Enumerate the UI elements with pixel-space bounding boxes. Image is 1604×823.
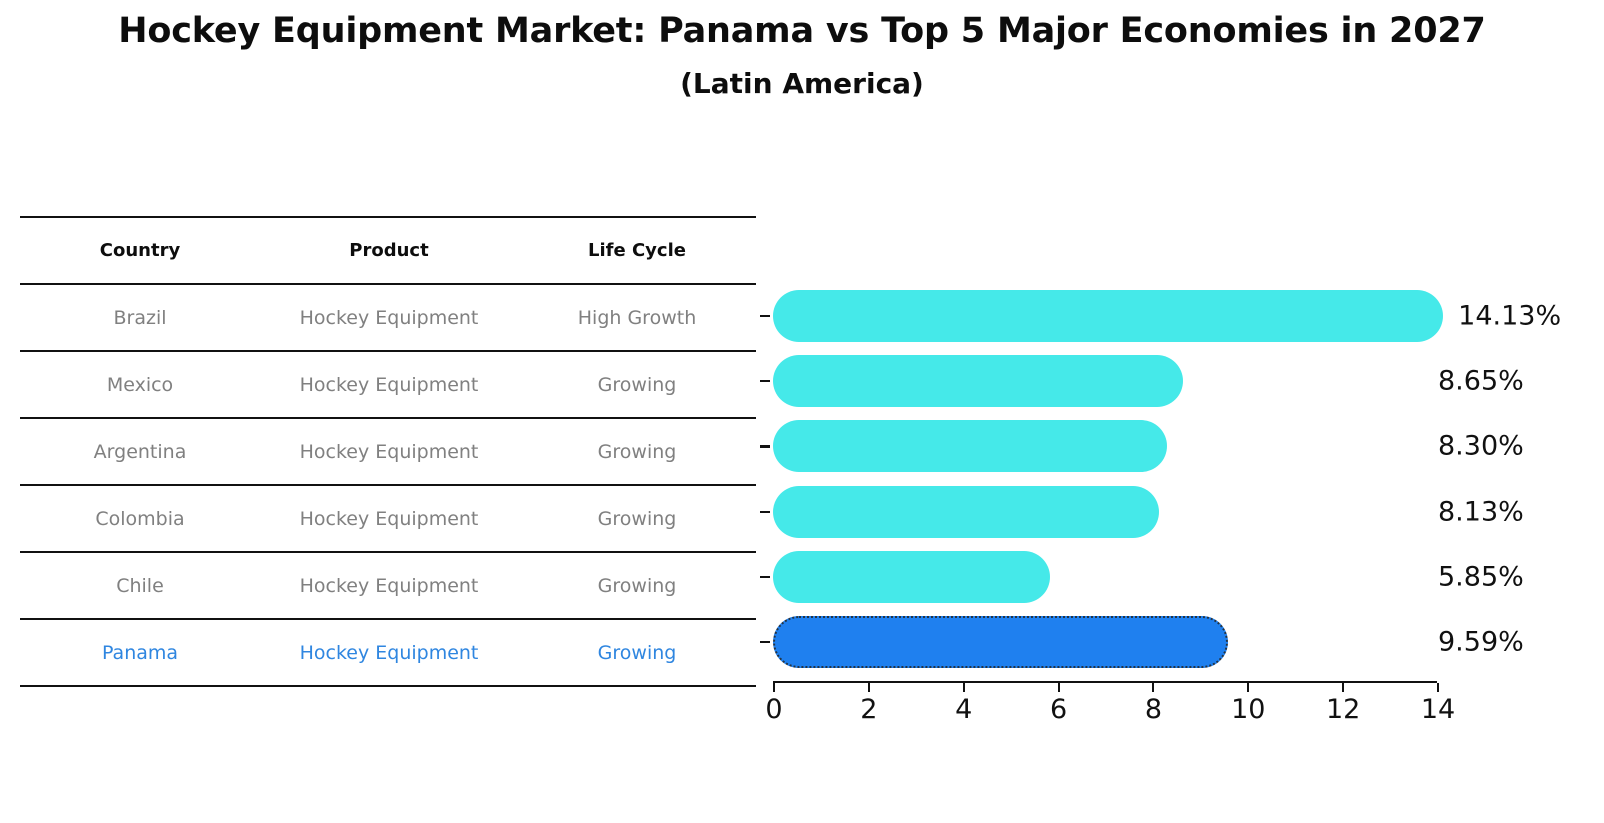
cell-country: Panama — [20, 619, 260, 686]
bar-row: 5.85% — [773, 551, 1220, 603]
bar-colombia[interactable] — [773, 486, 1159, 538]
y-axis-tick — [760, 380, 770, 382]
bar-row: 14.13% — [773, 290, 1604, 342]
x-axis-tick — [773, 683, 775, 692]
table-row: BrazilHockey EquipmentHigh Growth — [20, 284, 756, 351]
x-axis-tick — [1342, 683, 1344, 692]
bar-mexico[interactable] — [773, 355, 1183, 407]
x-axis-tick — [868, 683, 870, 692]
cell-country: Mexico — [20, 351, 260, 418]
column-header-product: Product — [260, 217, 518, 284]
cell-product: Hockey Equipment — [260, 284, 518, 351]
bar-panama[interactable] — [773, 616, 1228, 668]
cell-lifecycle: Growing — [518, 619, 756, 686]
x-axis-tick-label: 12 — [1326, 694, 1360, 725]
y-axis-tick — [760, 445, 770, 447]
table-row: PanamaHockey EquipmentGrowing — [20, 619, 756, 686]
bar-value-label: 8.13% — [1438, 496, 1524, 527]
page-title: Hockey Equipment Market: Panama vs Top 5… — [0, 10, 1604, 54]
x-axis-tick — [963, 683, 965, 692]
cell-product: Hockey Equipment — [260, 619, 518, 686]
y-axis-tick — [760, 576, 770, 578]
cell-lifecycle: Growing — [518, 351, 756, 418]
table-row: ChileHockey EquipmentGrowing — [20, 552, 756, 619]
table-row: ArgentinaHockey EquipmentGrowing — [20, 418, 756, 485]
table-body: BrazilHockey EquipmentHigh GrowthMexicoH… — [20, 284, 756, 686]
title-block: Hockey Equipment Market: Panama vs Top 5… — [0, 10, 1604, 101]
cell-country: Colombia — [20, 485, 260, 552]
bar-row: 8.13% — [773, 486, 1329, 538]
cell-lifecycle: Growing — [518, 552, 756, 619]
x-axis-tick — [1152, 683, 1154, 692]
cell-product: Hockey Equipment — [260, 418, 518, 485]
bar-value-label: 9.59% — [1438, 627, 1524, 658]
page-subtitle: (Latin America) — [0, 66, 1604, 101]
bar-row: 8.65% — [773, 355, 1353, 407]
y-axis-tick — [760, 641, 770, 643]
x-axis-tick-label: 0 — [765, 694, 782, 725]
x-axis-tick — [1058, 683, 1060, 692]
bar-value-label: 8.30% — [1438, 431, 1524, 462]
cell-country: Argentina — [20, 418, 260, 485]
x-axis-line — [773, 681, 1437, 683]
table-row: MexicoHockey EquipmentGrowing — [20, 351, 756, 418]
bar-value-label: 5.85% — [1438, 561, 1524, 592]
bar-row: 8.30% — [773, 420, 1337, 472]
bar-row: 9.59% — [773, 616, 1398, 668]
table-header: Country Product Life Cycle — [20, 217, 756, 284]
cell-lifecycle: High Growth — [518, 284, 756, 351]
x-axis-tick-label: 10 — [1231, 694, 1265, 725]
x-axis-tick — [1437, 683, 1439, 692]
x-axis-tick-label: 4 — [955, 694, 972, 725]
cell-country: Brazil — [20, 284, 260, 351]
cell-lifecycle: Growing — [518, 418, 756, 485]
cell-country: Chile — [20, 552, 260, 619]
bar-value-label: 14.13% — [1458, 301, 1561, 332]
cell-product: Hockey Equipment — [260, 351, 518, 418]
x-axis-tick-label: 8 — [1145, 694, 1162, 725]
table-row: ColombiaHockey EquipmentGrowing — [20, 485, 756, 552]
x-axis-tick-label: 14 — [1421, 694, 1455, 725]
country-table: Country Product Life Cycle BrazilHockey … — [20, 216, 756, 687]
table-header-row: Country Product Life Cycle — [20, 217, 756, 284]
x-axis-tick-label: 2 — [860, 694, 877, 725]
data-table-panel: Country Product Life Cycle BrazilHockey … — [20, 216, 756, 687]
column-header-lifecycle: Life Cycle — [518, 217, 756, 284]
bar-brazil[interactable] — [773, 290, 1443, 342]
cell-lifecycle: Growing — [518, 485, 756, 552]
cell-product: Hockey Equipment — [260, 485, 518, 552]
x-axis-tick — [1247, 683, 1249, 692]
cell-product: Hockey Equipment — [260, 552, 518, 619]
column-header-country: Country — [20, 217, 260, 284]
bar-argentina[interactable] — [773, 420, 1167, 472]
y-axis-tick — [760, 511, 770, 513]
y-axis-tick — [760, 315, 770, 317]
bar-chile[interactable] — [773, 551, 1050, 603]
bar-value-label: 8.65% — [1438, 366, 1524, 397]
x-axis-tick-label: 6 — [1050, 694, 1067, 725]
